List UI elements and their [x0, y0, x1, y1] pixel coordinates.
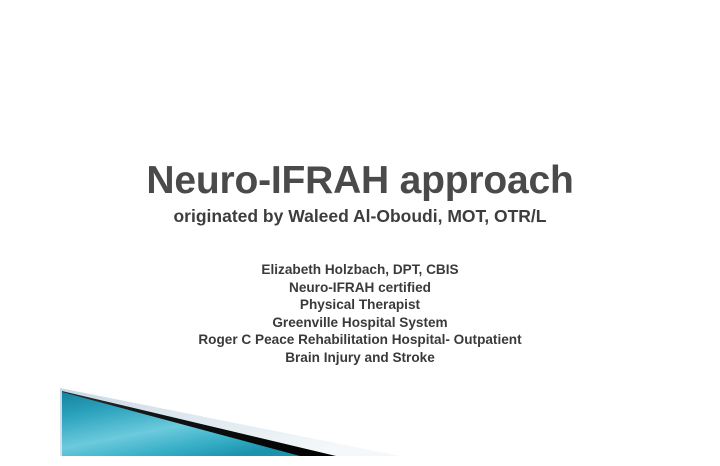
presenter-info-block: Elizabeth Holzbach, DPT, CBIS Neuro-IFRA… — [0, 261, 720, 367]
title-block: Neuro-IFRAH approach originated by Walee… — [0, 158, 720, 227]
dark-wedge-triangle — [62, 391, 336, 456]
triangular-corner-accent-graphic — [0, 370, 440, 466]
pale-blue-triangle — [60, 388, 400, 456]
presenter-specialty: Brain Injury and Stroke — [0, 349, 720, 367]
presenter-name: Elizabeth Holzbach, DPT, CBIS — [0, 261, 720, 279]
teal-triangle — [62, 392, 300, 456]
corner-accent-svg — [0, 370, 440, 466]
slide-subtitle: originated by Waleed Al-Oboudi, MOT, OTR… — [0, 205, 720, 227]
presenter-facility: Roger C Peace Rehabilitation Hospital- O… — [0, 331, 720, 349]
presenter-organization: Greenville Hospital System — [0, 314, 720, 332]
presenter-role: Physical Therapist — [0, 296, 720, 314]
presenter-certification: Neuro-IFRAH certified — [0, 279, 720, 297]
page-title: Neuro-IFRAH approach — [0, 158, 720, 204]
presentation-slide: Neuro-IFRAH approach originated by Walee… — [0, 0, 720, 466]
